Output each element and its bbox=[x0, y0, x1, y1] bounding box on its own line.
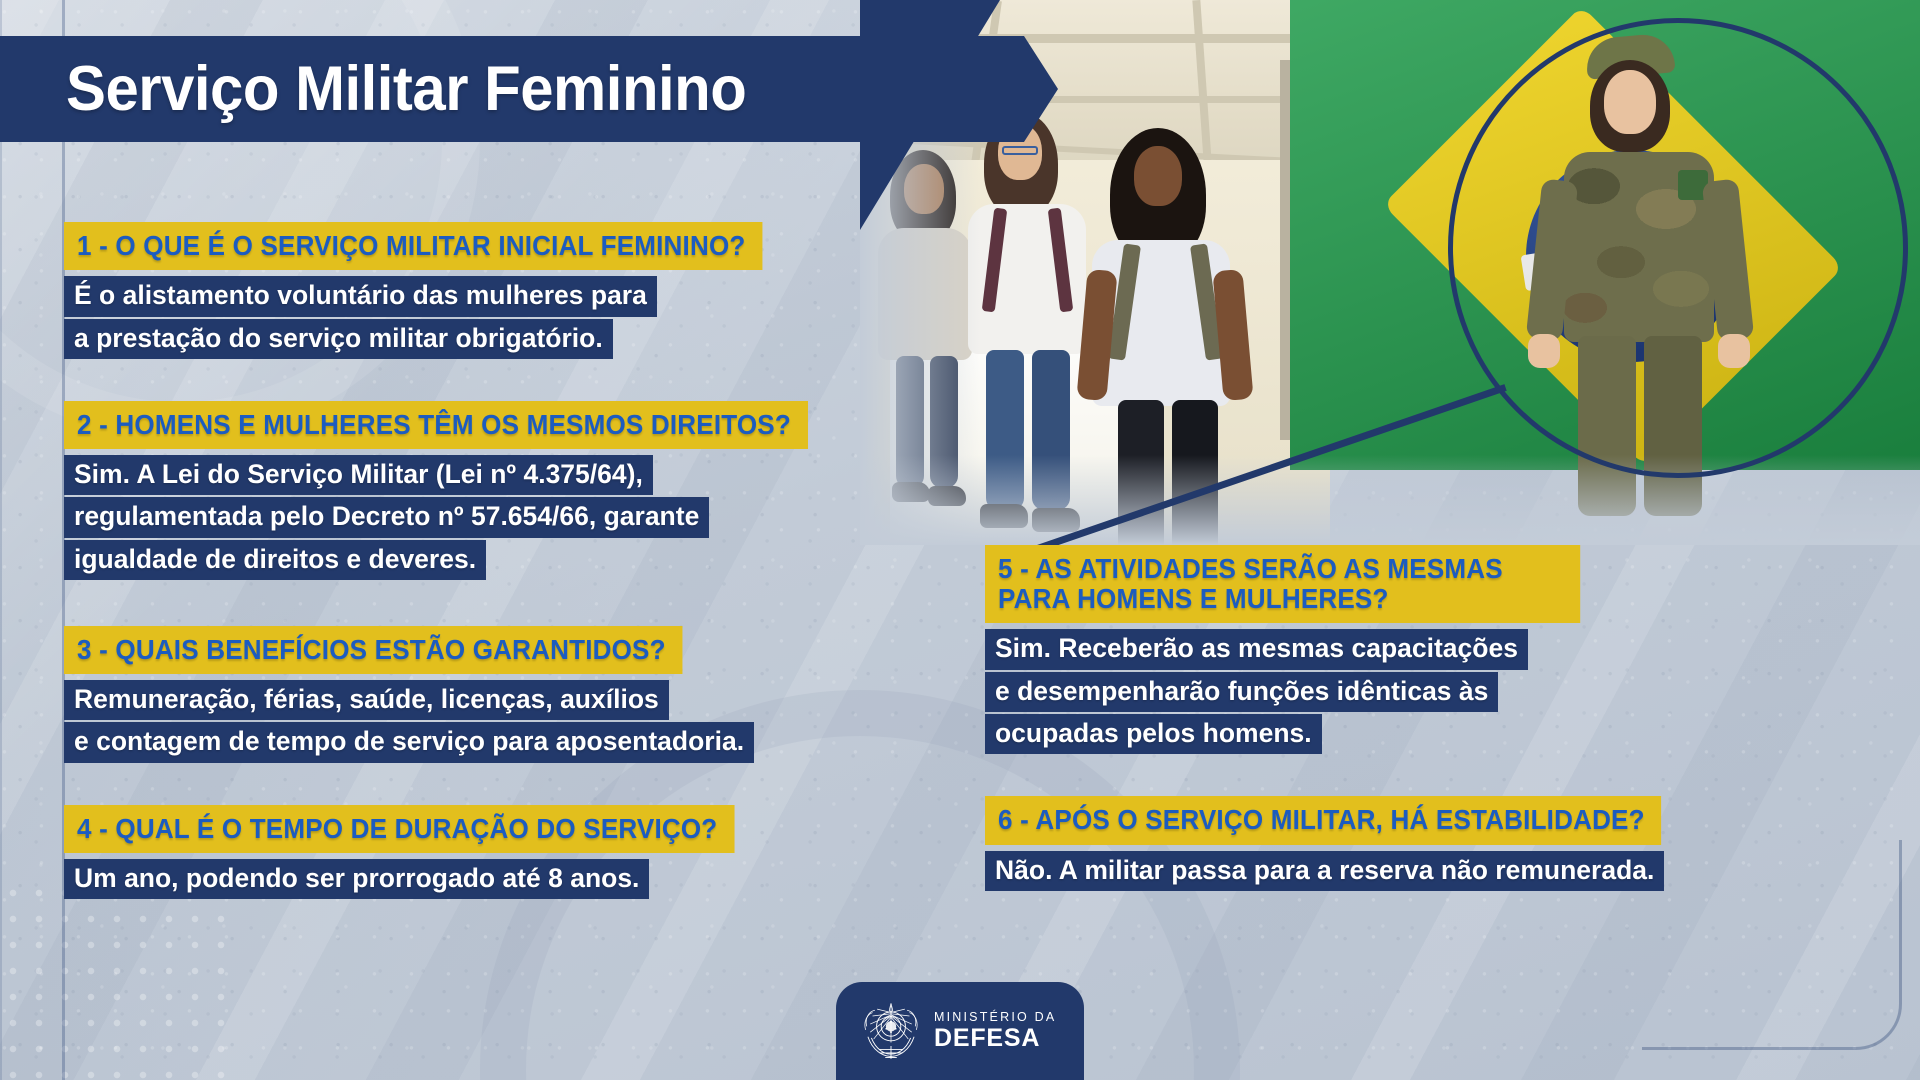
brazil-coat-of-arms-icon bbox=[862, 1001, 920, 1061]
faq-item-6: 6 - APÓS O SERVIÇO MILITAR, HÁ ESTABILID… bbox=[985, 796, 1875, 891]
faq-item-4: 4 - QUAL É O TEMPO DE DURAÇÃO DO SERVIÇO… bbox=[64, 805, 964, 900]
ministry-logo-block: MINISTÉRIO DA DEFESA bbox=[836, 982, 1084, 1080]
faq-answer-line: regulamentada pelo Decreto nº 57.654/66,… bbox=[64, 497, 709, 537]
faq-item-2: 2 - HOMENS E MULHERES TÊM OS MESMOS DIRE… bbox=[64, 401, 964, 580]
ministry-logo-text: MINISTÉRIO DA DEFESA bbox=[934, 1011, 1056, 1052]
soldier-hand bbox=[1718, 334, 1750, 368]
faq-item-1: 1 - O QUE É O SERVIÇO MILITAR INICIAL FE… bbox=[64, 222, 964, 359]
faq-answer-1: É o alistamento voluntário das mulheres … bbox=[64, 276, 964, 359]
faq-answer-line: É o alistamento voluntário das mulheres … bbox=[64, 276, 657, 316]
faq-right-column: 5 - AS ATIVIDADES SERÃO AS MESMAS PARA H… bbox=[985, 545, 1875, 893]
faq-answer-line: e desempenharão funções idênticas às bbox=[985, 672, 1498, 712]
page-title: Serviço Militar Feminino bbox=[66, 53, 746, 125]
faq-answer-line: e contagem de tempo de serviço para apos… bbox=[64, 722, 754, 762]
faq-answer-6: Não. A militar passa para a reserva não … bbox=[985, 851, 1875, 891]
faq-answer-line: Um ano, podendo ser prorrogado até 8 ano… bbox=[64, 859, 649, 899]
faq-answer-line: Sim. A Lei do Serviço Militar (Lei nº 4.… bbox=[64, 455, 653, 495]
ministry-name-line1: MINISTÉRIO DA bbox=[934, 1011, 1056, 1024]
faq-answer-line: Sim. Receberão as mesmas capacitações bbox=[985, 629, 1528, 669]
faq-question-2: 2 - HOMENS E MULHERES TÊM OS MESMOS DIRE… bbox=[64, 401, 808, 449]
background-dot-pattern bbox=[0, 880, 240, 1080]
faq-answer-line: ocupadas pelos homens. bbox=[985, 714, 1322, 754]
faq-left-column: 1 - O QUE É O SERVIÇO MILITAR INICIAL FE… bbox=[64, 222, 964, 901]
faq-answer-3: Remuneração, férias, saúde, licenças, au… bbox=[64, 680, 964, 763]
faq-question-3: 3 - QUAIS BENEFÍCIOS ESTÃO GARANTIDOS? bbox=[64, 626, 682, 674]
faq-item-5: 5 - AS ATIVIDADES SERÃO AS MESMAS PARA H… bbox=[985, 545, 1875, 754]
title-banner: Serviço Militar Feminino bbox=[0, 36, 1058, 142]
faq-answer-5: Sim. Receberão as mesmas capacitações e … bbox=[985, 629, 1875, 754]
faq-question-4: 4 - QUAL É O TEMPO DE DURAÇÃO DO SERVIÇO… bbox=[64, 805, 734, 853]
faq-answer-line: a prestação do serviço militar obrigatór… bbox=[64, 319, 613, 359]
faq-answer-line: igualdade de direitos e deveres. bbox=[64, 540, 486, 580]
soldier-hand bbox=[1528, 334, 1560, 368]
photo-person-glasses bbox=[1002, 146, 1038, 155]
ministry-name-line2: DEFESA bbox=[934, 1026, 1056, 1051]
faq-question-5: 5 - AS ATIVIDADES SERÃO AS MESMAS PARA H… bbox=[985, 545, 1580, 623]
faq-question-1: 1 - O QUE É O SERVIÇO MILITAR INICIAL FE… bbox=[64, 222, 762, 270]
faq-answer-4: Um ano, podendo ser prorrogado até 8 ano… bbox=[64, 859, 964, 899]
faq-answer-2: Sim. A Lei do Serviço Militar (Lei nº 4.… bbox=[64, 455, 964, 580]
faq-answer-line: Remuneração, férias, saúde, licenças, au… bbox=[64, 680, 669, 720]
faq-question-6: 6 - APÓS O SERVIÇO MILITAR, HÁ ESTABILID… bbox=[985, 796, 1661, 844]
faq-item-3: 3 - QUAIS BENEFÍCIOS ESTÃO GARANTIDOS? R… bbox=[64, 626, 964, 763]
left-vertical-rule-edge bbox=[0, 0, 2, 1080]
faq-answer-line: Não. A militar passa para a reserva não … bbox=[985, 851, 1664, 891]
